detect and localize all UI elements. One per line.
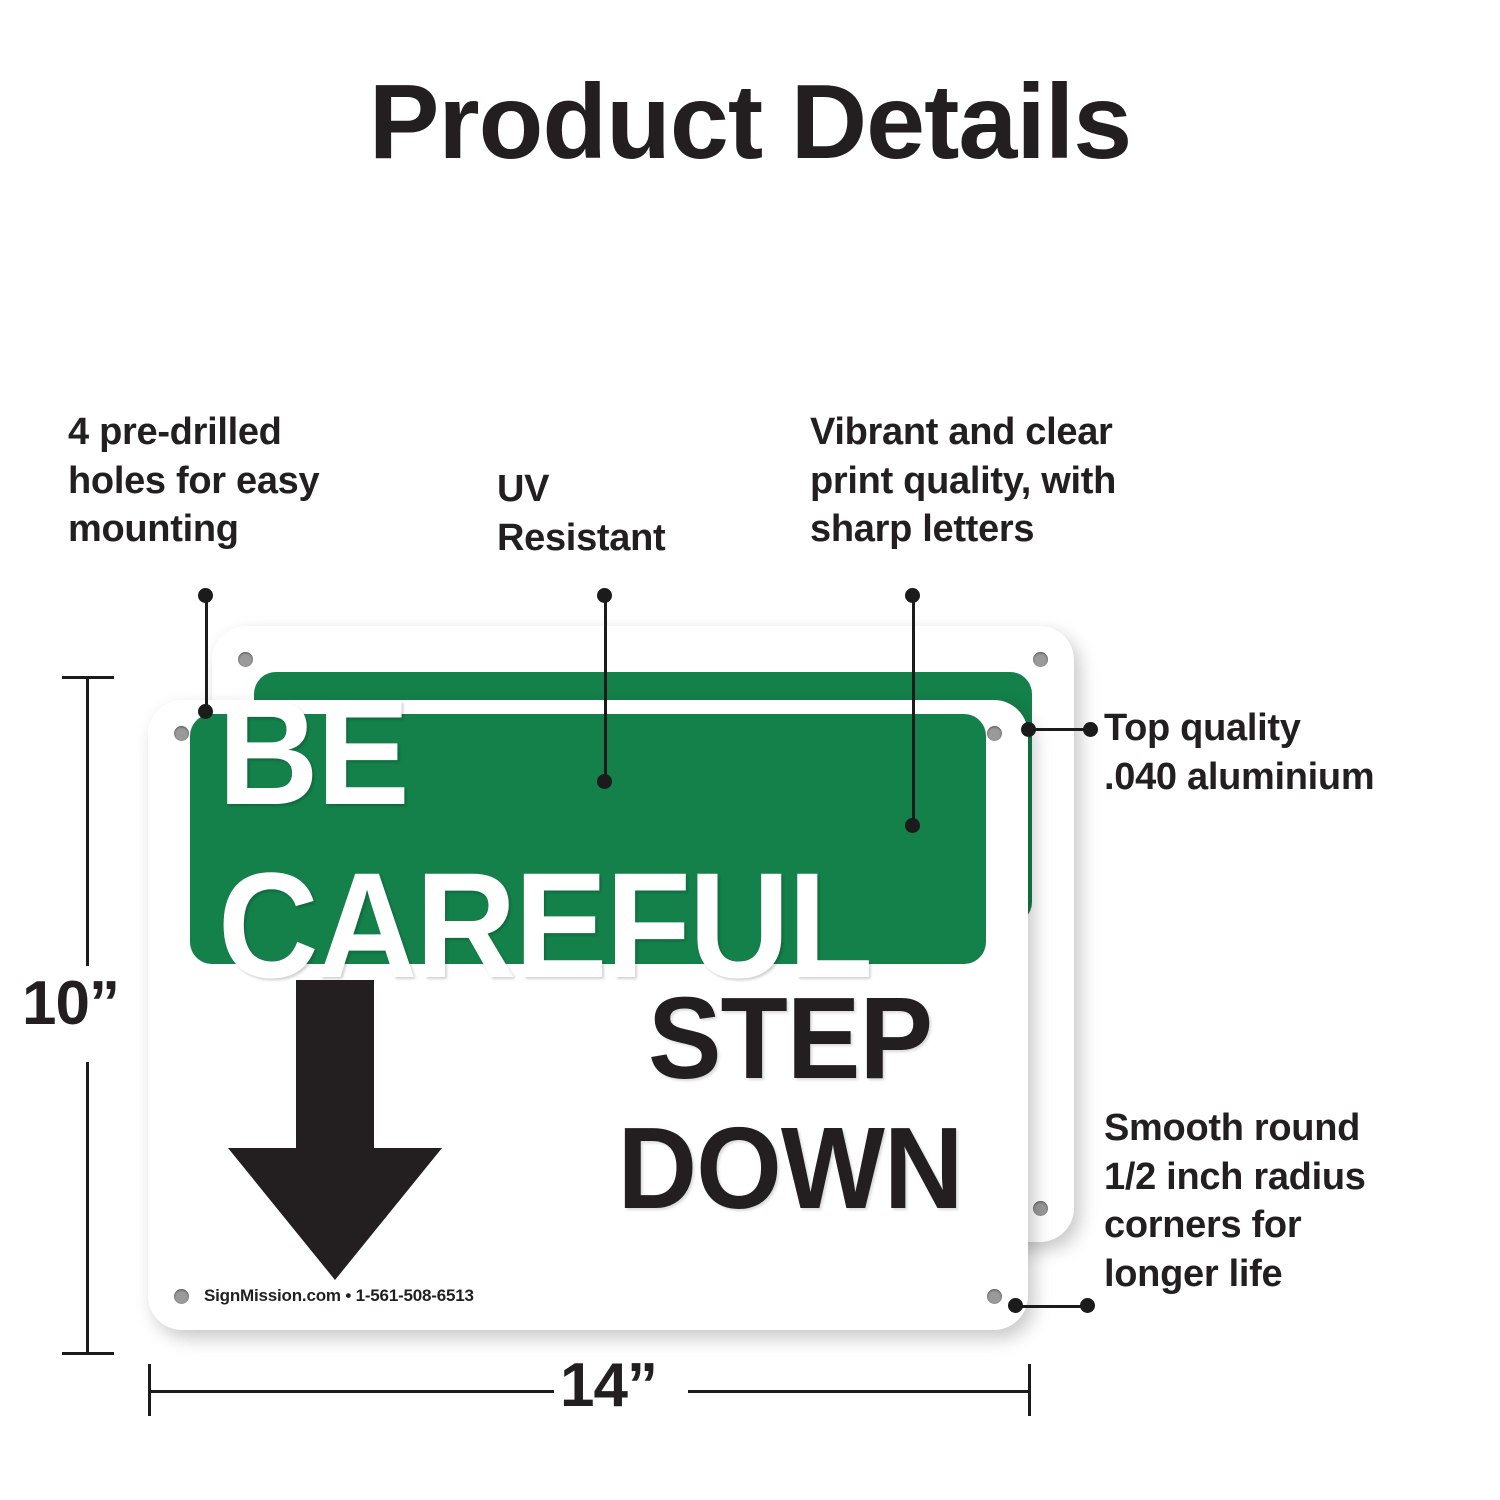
dim-cap-height-bottom <box>62 1352 114 1355</box>
sign-green-banner: BE CAREFUL <box>190 714 986 964</box>
dim-line-height-upper <box>86 676 89 966</box>
leader-dot-uv-top <box>597 588 612 603</box>
leader-dot-aluminium-left <box>1021 722 1036 737</box>
dim-label-height: 10” <box>22 968 119 1039</box>
mounting-hole-top-right <box>987 726 1002 741</box>
mounting-hole-bottom-left <box>174 1289 189 1304</box>
leader-dot-corners-left <box>1008 1298 1023 1313</box>
product-details-infographic: Product Details BE CAREFUL STEP DOWN Sig… <box>0 0 1500 1500</box>
leader-dot-pre-drilled-top <box>198 588 213 603</box>
sign-footer-branding: SignMission.com • 1-561-508-6513 <box>204 1286 474 1306</box>
leader-dot-aluminium-right <box>1083 722 1098 737</box>
leader-line-uv-resistant <box>604 595 607 781</box>
dim-cap-width-right <box>1028 1364 1031 1416</box>
dim-line-height-lower <box>86 1062 89 1354</box>
callout-uv-resistant: UV Resistant <box>497 465 747 562</box>
sign-body-text: STEP DOWN <box>600 974 980 1234</box>
leader-dot-print-quality-bottom <box>905 818 920 833</box>
leader-line-pre-drilled-holes <box>205 595 208 713</box>
page-title: Product Details <box>0 62 1500 183</box>
mounting-hole-back-top-left <box>238 652 253 667</box>
leader-dot-corners-right <box>1080 1298 1095 1313</box>
leader-dot-uv-bottom <box>597 774 612 789</box>
leader-dot-pre-drilled-bottom <box>198 704 213 719</box>
leader-line-print-quality <box>912 595 915 825</box>
dim-label-width: 14” <box>560 1350 657 1421</box>
callout-rounded-corners: Smooth round 1/2 inch radius corners for… <box>1104 1104 1500 1299</box>
leader-line-aluminium <box>1028 728 1090 731</box>
leader-dot-print-quality-top <box>905 588 920 603</box>
leader-line-rounded-corners <box>1015 1305 1087 1308</box>
mounting-hole-back-bottom-right <box>1033 1201 1048 1216</box>
mounting-hole-top-left <box>174 726 189 741</box>
callout-print-quality: Vibrant and clear print quality, with sh… <box>810 408 1260 554</box>
callout-pre-drilled-holes: 4 pre-drilled holes for easy mounting <box>68 408 438 554</box>
callout-aluminium: Top quality .040 aluminium <box>1104 704 1500 801</box>
mounting-hole-back-top-right <box>1033 652 1048 667</box>
down-arrow-icon <box>220 980 450 1280</box>
dim-line-width-right <box>688 1390 1030 1393</box>
dim-line-width-left <box>148 1390 554 1393</box>
banner-headline: BE CAREFUL <box>218 714 958 964</box>
mounting-hole-bottom-right <box>987 1289 1002 1304</box>
sign-front-layer: BE CAREFUL STEP DOWN SignMission.com • 1… <box>148 700 1028 1330</box>
sign-body: STEP DOWN <box>190 980 998 1270</box>
